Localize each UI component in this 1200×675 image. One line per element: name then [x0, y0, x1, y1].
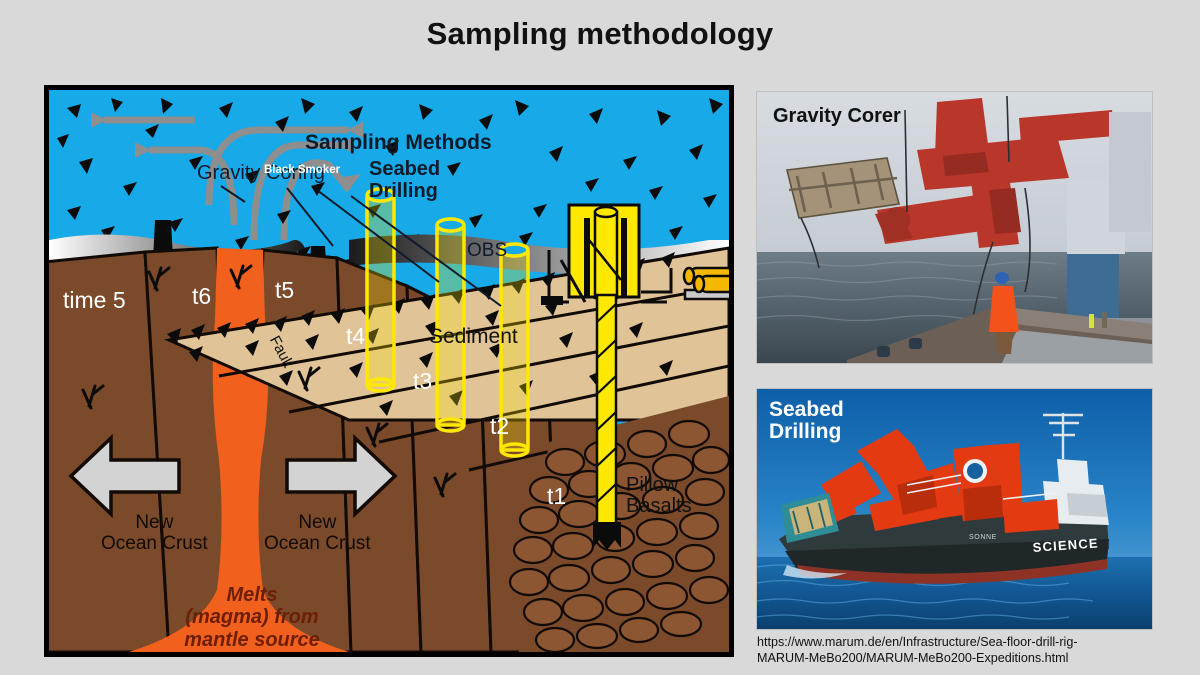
svg-text:SONNE: SONNE: [969, 534, 997, 541]
diagram-artwork: [49, 90, 729, 652]
gravity-corer-scene: [757, 92, 1152, 363]
page-title: Sampling methodology: [0, 16, 1200, 52]
seabed-drilling-photo: SONNE SCIENCE Seabed Drilling: [757, 389, 1152, 629]
gravity-corer-caption: Gravity Corer: [773, 106, 901, 127]
seabed-drilling-caption: Seabed Drilling: [769, 399, 844, 444]
source-url-caption: https://www.marum.de/en/Infrastructure/S…: [757, 634, 1187, 666]
ridge-cross-section-diagram: Sampling Methods Gravity Coring Seabed D…: [44, 85, 734, 657]
gravity-corer-photo: Gravity Corer: [757, 92, 1152, 363]
